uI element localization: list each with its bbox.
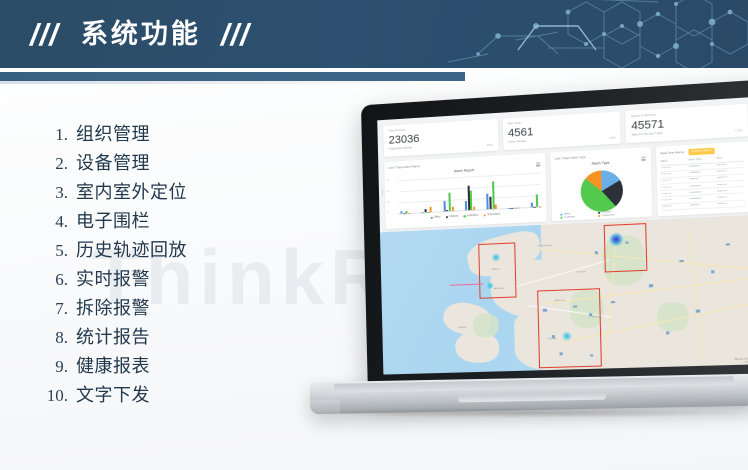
laptop-mockup: Total Devices 23036 Total Active Devices…	[300, 95, 748, 425]
map-poi	[595, 251, 599, 254]
list-item: 5.历史轨迹回放	[28, 236, 328, 265]
list-item: 1.组织管理	[28, 120, 328, 149]
cell-time: 2020-05-...	[716, 163, 744, 167]
map-poi	[649, 285, 653, 288]
cell-type: Lowbattery	[689, 164, 717, 168]
red-selection-box	[603, 223, 647, 272]
stat-card-alarms-24h[interactable]: Alarms in 24 hours 45571 Alarms in the L…	[626, 104, 748, 144]
x-tick: 05-15 00:00	[464, 210, 474, 213]
list-item: 7.拆除报警	[28, 294, 328, 323]
list-item-label: 组织管理	[76, 120, 150, 146]
list-item-number: 2.	[28, 154, 76, 174]
cell-name: PT83 Te...	[662, 198, 690, 201]
list-item-label: 统计报告	[76, 323, 150, 349]
bar-group	[508, 174, 519, 208]
map-poi	[696, 309, 700, 312]
map-green-area	[473, 314, 499, 338]
x-tick: 05-17 00:00	[508, 208, 518, 211]
cell-type: Lowbattery	[689, 184, 717, 188]
cell-time: 2020-05-...	[717, 169, 745, 173]
legend-item[interactable]: Lowbattery	[464, 215, 479, 218]
panel-alarm-type: Last 7 Days Alarm Type Alarm Type Offlin…	[550, 147, 652, 221]
bar-group	[400, 180, 411, 214]
stat-card-day-yards[interactable]: Day Yards 4561 Online Devices 1583	[503, 111, 622, 150]
map-label: Yas Island	[576, 271, 586, 273]
list-item-label: 文字下发	[76, 381, 150, 407]
list-item-number: 4.	[28, 212, 76, 232]
x-tick: 05-16 00:00	[486, 209, 496, 212]
stat-card-total-devices[interactable]: Total Devices 23036 Total Active Devices…	[383, 119, 498, 157]
bar-group	[464, 176, 475, 210]
alarms-table: Name Alarm Type Time PT83 Te...Lowbatter…	[661, 155, 746, 210]
red-selection-box	[537, 288, 601, 368]
panel-alarm-report: Last 7 Days Alarm Report Alarm Report 30…	[384, 153, 547, 229]
column-header: Alarm Type	[688, 157, 716, 162]
legend-label: Temperature	[487, 214, 500, 217]
list-item: 9.健康报表	[28, 352, 328, 381]
stat-subvalue: 1583	[609, 137, 615, 140]
list-item-number: 10.	[28, 386, 76, 406]
y-tick: 0	[387, 212, 388, 214]
bar-group	[530, 173, 541, 207]
cell-time: 2020-05-...	[717, 176, 745, 180]
list-item-number: 3.	[28, 183, 76, 203]
page-header: /// 系统功能 ///	[0, 0, 748, 68]
panel-title-text: Real Time Alarms	[660, 150, 684, 155]
laptop-lid: Total Devices 23036 Total Active Devices…	[361, 79, 748, 395]
y-tick: 10	[387, 201, 389, 203]
list-item-number: 5.	[28, 241, 76, 261]
list-item: 4.电子围栏	[28, 207, 328, 236]
cell-name: PT83 Te...	[662, 192, 690, 195]
map-label: Al Bahia	[492, 269, 500, 271]
list-item-label: 电子围栏	[76, 207, 150, 233]
cell-name: PT83 Te...	[661, 166, 689, 170]
cell-type: Lowbattery	[689, 197, 717, 200]
map-poi	[666, 331, 670, 334]
x-tick: 05-14 00:00	[442, 211, 452, 213]
list-item-label: 历史轨迹回放	[76, 236, 187, 262]
dashboard: Total Devices 23036 Total Active Devices…	[377, 97, 748, 375]
map-label: Al Raha	[592, 316, 600, 318]
map-poi	[726, 243, 730, 246]
list-item-label: 拆除报警	[76, 294, 150, 320]
legend-item[interactable]: Cardown	[446, 216, 459, 219]
list-item-label: 设备管理	[76, 149, 150, 175]
x-tick: 05-18 00:00	[531, 206, 541, 209]
y-tick: 30	[387, 179, 389, 181]
column-header: Name	[661, 158, 689, 163]
list-item-number: 9.	[28, 357, 76, 377]
map-credit: Map data ©2020 Google	[734, 358, 748, 361]
x-tick: 05-12 00:00	[399, 213, 409, 215]
cell-name: PT83 Te...	[661, 179, 689, 183]
list-item: 6.实时报警	[28, 265, 328, 294]
legend-item[interactable]: Temperature	[484, 214, 501, 217]
kebab-menu-icon[interactable]	[536, 162, 540, 166]
laptop-trackpad	[458, 393, 606, 403]
kebab-menu-icon[interactable]	[641, 157, 645, 161]
list-item-label: 实时报警	[76, 265, 150, 291]
laptop-shadow	[314, 408, 746, 418]
pie-chart-legend: Offline Cardown Lowbattery Temperature	[560, 209, 648, 219]
page-title: 系统功能	[81, 21, 201, 48]
list-item-number: 8.	[28, 328, 76, 348]
column-header: Time	[716, 155, 744, 160]
legend-label: Lowbattery	[564, 216, 575, 219]
legend-label: Offline	[434, 217, 441, 219]
cell-time: 2020-05-...	[717, 189, 745, 193]
cell-name: GW8378...	[662, 205, 690, 208]
list-item: 8.统计报告	[28, 323, 328, 352]
x-tick: 05-13 00:00	[421, 212, 431, 214]
list-item: 10.文字下发	[28, 381, 328, 410]
list-item-number: 1.	[28, 125, 76, 145]
list-item-number: 6.	[28, 270, 76, 290]
feature-list: 1.组织管理 2.设备管理 3.室内室外定位 4.电子围栏 5.历史轨迹回放 6…	[28, 120, 328, 410]
list-item-number: 7.	[28, 299, 76, 319]
status-badge[interactable]: All Device Alarms	[688, 148, 715, 156]
map-label: Mussafah	[548, 338, 557, 340]
list-item-label: 健康报表	[76, 352, 150, 378]
y-tick: 20	[387, 190, 389, 192]
map-label: Khalifa City	[554, 300, 565, 302]
header-underline-bar	[0, 72, 465, 81]
stat-subvalue: 77646	[735, 129, 743, 133]
bar-group	[486, 175, 497, 209]
legend-item[interactable]: Temperature	[598, 213, 633, 217]
map-view[interactable]: Al Bahia Abu Dhabi Al Reem Island Khalif…	[380, 215, 748, 375]
legend-item[interactable]: Offline	[431, 216, 441, 219]
cell-name: PT83 Te...	[661, 185, 689, 188]
header-underline-shadow	[0, 81, 455, 84]
map-label: Saadiyat	[458, 326, 466, 328]
cell-time: 2020-05-...	[717, 195, 745, 198]
legend-label: Lowbattery	[467, 215, 479, 218]
list-item: 2.设备管理	[28, 149, 328, 178]
panel-real-time-alarms: Real Time Alarms All Device Alarms Name …	[656, 142, 748, 217]
laptop-screen: Total Devices 23036 Total Active Devices…	[377, 97, 748, 375]
y-axis-label: Count	[382, 189, 384, 195]
slash-decoration-left: ///	[30, 19, 59, 50]
cell-type: Lowbattery	[689, 171, 717, 175]
slash-decoration-right: ///	[221, 19, 250, 50]
stat-subvalue: 8986	[487, 144, 493, 147]
cell-time: 2020-05-...	[717, 182, 745, 186]
pie-chart	[580, 169, 623, 212]
bar-group	[421, 179, 432, 213]
bar-group	[443, 177, 454, 211]
cell-type: Opening	[689, 177, 717, 181]
cell-name: PT83 Te...	[661, 172, 689, 176]
cell-time: 2020-05-...	[717, 202, 745, 205]
chart-title: Alarm Type	[555, 159, 647, 168]
list-item: 3.室内室外定位	[28, 178, 328, 207]
map-poi	[611, 301, 615, 304]
map-poi	[711, 270, 715, 273]
map-label: Abu Dhabi	[494, 287, 504, 289]
legend-label: Cardown	[449, 216, 458, 218]
legend-label: Temperature	[602, 214, 615, 217]
list-item-label: 室内室外定位	[76, 178, 187, 204]
cell-type: Opening	[690, 203, 718, 206]
legend-item[interactable]: Lowbattery	[560, 215, 595, 219]
cell-type: Lowbattery	[689, 190, 717, 193]
